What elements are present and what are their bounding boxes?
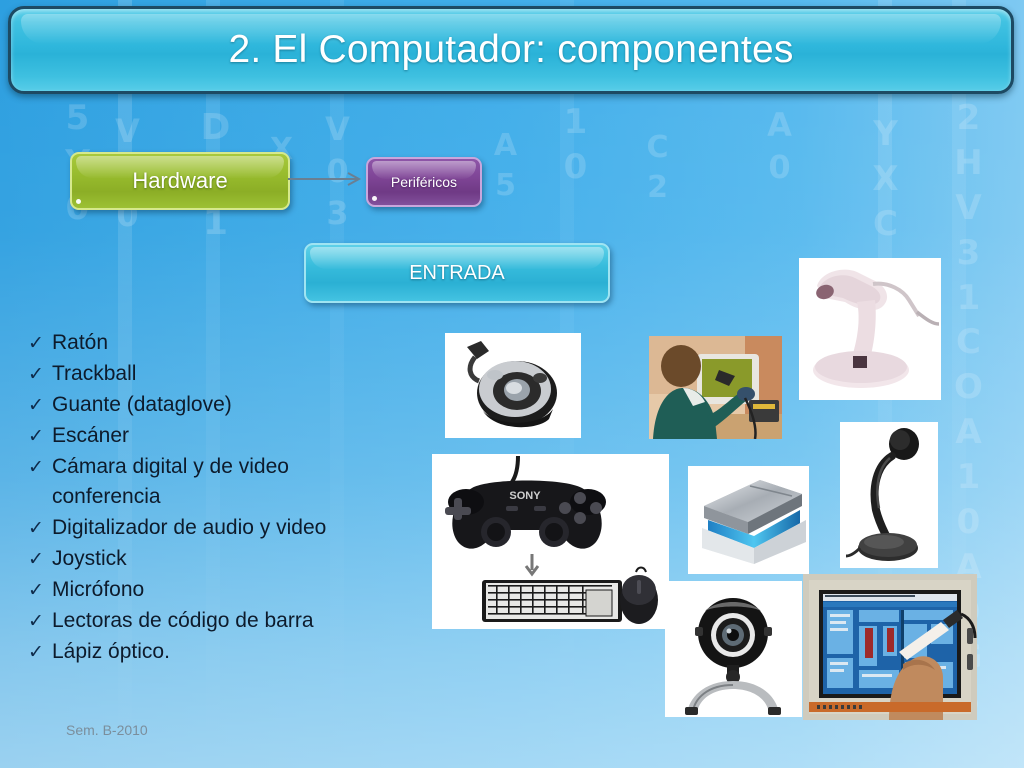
- check-icon: ✓: [28, 390, 52, 420]
- slide: 5Y0 VC0 D21 X1 V03 A5 10 C2 A0 YXC 2HV31…: [0, 0, 1024, 768]
- list-item-label: Escáner: [52, 421, 129, 451]
- list-item-label: Cámara digital y de video conferencia: [52, 452, 372, 512]
- slide-title-banner: 2. El Computador: componentes: [8, 6, 1014, 94]
- shape-hardware[interactable]: Hardware: [70, 152, 290, 210]
- list-item: ✓ Lectoras de código de barra: [28, 606, 428, 636]
- list-item-label: Ratón: [52, 328, 108, 358]
- check-icon: ✓: [28, 513, 52, 543]
- shape-entrada[interactable]: ENTRADA: [304, 243, 610, 303]
- list-item-label: Digitalizador de audio y video: [52, 513, 352, 543]
- input-devices-list: ✓ Ratón ✓ Trackball ✓ Guante (dataglove)…: [28, 328, 428, 668]
- list-item: ✓ Lápiz óptico.: [28, 637, 428, 667]
- list-item: ✓ Escáner: [28, 421, 428, 451]
- check-icon: ✓: [28, 575, 52, 605]
- check-icon: ✓: [28, 637, 52, 667]
- list-item: ✓ Micrófono: [28, 575, 428, 605]
- page-title: 2. El Computador: componentes: [228, 28, 793, 72]
- shape-perifericos[interactable]: Periféricos: [366, 157, 482, 207]
- gamepad-keyboard-photo: SONY: [432, 454, 669, 629]
- list-item: ✓ Joystick: [28, 544, 428, 574]
- lightpen-screen-photo: [803, 574, 977, 720]
- shape-corner-dot: [76, 199, 81, 204]
- dataglove-photo: [649, 336, 782, 439]
- webcam-photo: [665, 581, 802, 717]
- svg-text:SONY: SONY: [509, 490, 541, 502]
- barcode-scanner-photo: [799, 258, 941, 400]
- flatbed-scanner-photo: [688, 466, 809, 574]
- list-item: ✓ Trackball: [28, 359, 428, 389]
- list-item-label: Lectoras de código de barra: [52, 606, 314, 636]
- shape-entrada-label: ENTRADA: [409, 262, 505, 285]
- list-item: ✓ Digitalizador de audio y video: [28, 513, 428, 543]
- shape-perifericos-label: Periféricos: [391, 174, 457, 190]
- list-item-label: Guante (dataglove): [52, 390, 232, 420]
- list-item: ✓ Guante (dataglove): [28, 390, 428, 420]
- slide-footer: Sem. B-2010: [66, 722, 148, 738]
- list-item: ✓ Cámara digital y de video conferencia: [28, 452, 428, 512]
- microphone-photo: [840, 422, 938, 568]
- shape-hardware-label: Hardware: [132, 168, 227, 194]
- trackball-photo: [445, 333, 581, 438]
- shape-corner-dot: [372, 196, 377, 201]
- check-icon: ✓: [28, 328, 52, 358]
- check-icon: ✓: [28, 544, 52, 574]
- check-icon: ✓: [28, 421, 52, 451]
- connector-arrow: [288, 168, 372, 190]
- list-item-label: Lápiz óptico.: [52, 637, 170, 667]
- check-icon: ✓: [28, 606, 52, 636]
- list-item-label: Joystick: [52, 544, 127, 574]
- check-icon: ✓: [28, 452, 52, 482]
- list-item: ✓ Ratón: [28, 328, 428, 358]
- list-item-label: Micrófono: [52, 575, 144, 605]
- check-icon: ✓: [28, 359, 52, 389]
- list-item-label: Trackball: [52, 359, 136, 389]
